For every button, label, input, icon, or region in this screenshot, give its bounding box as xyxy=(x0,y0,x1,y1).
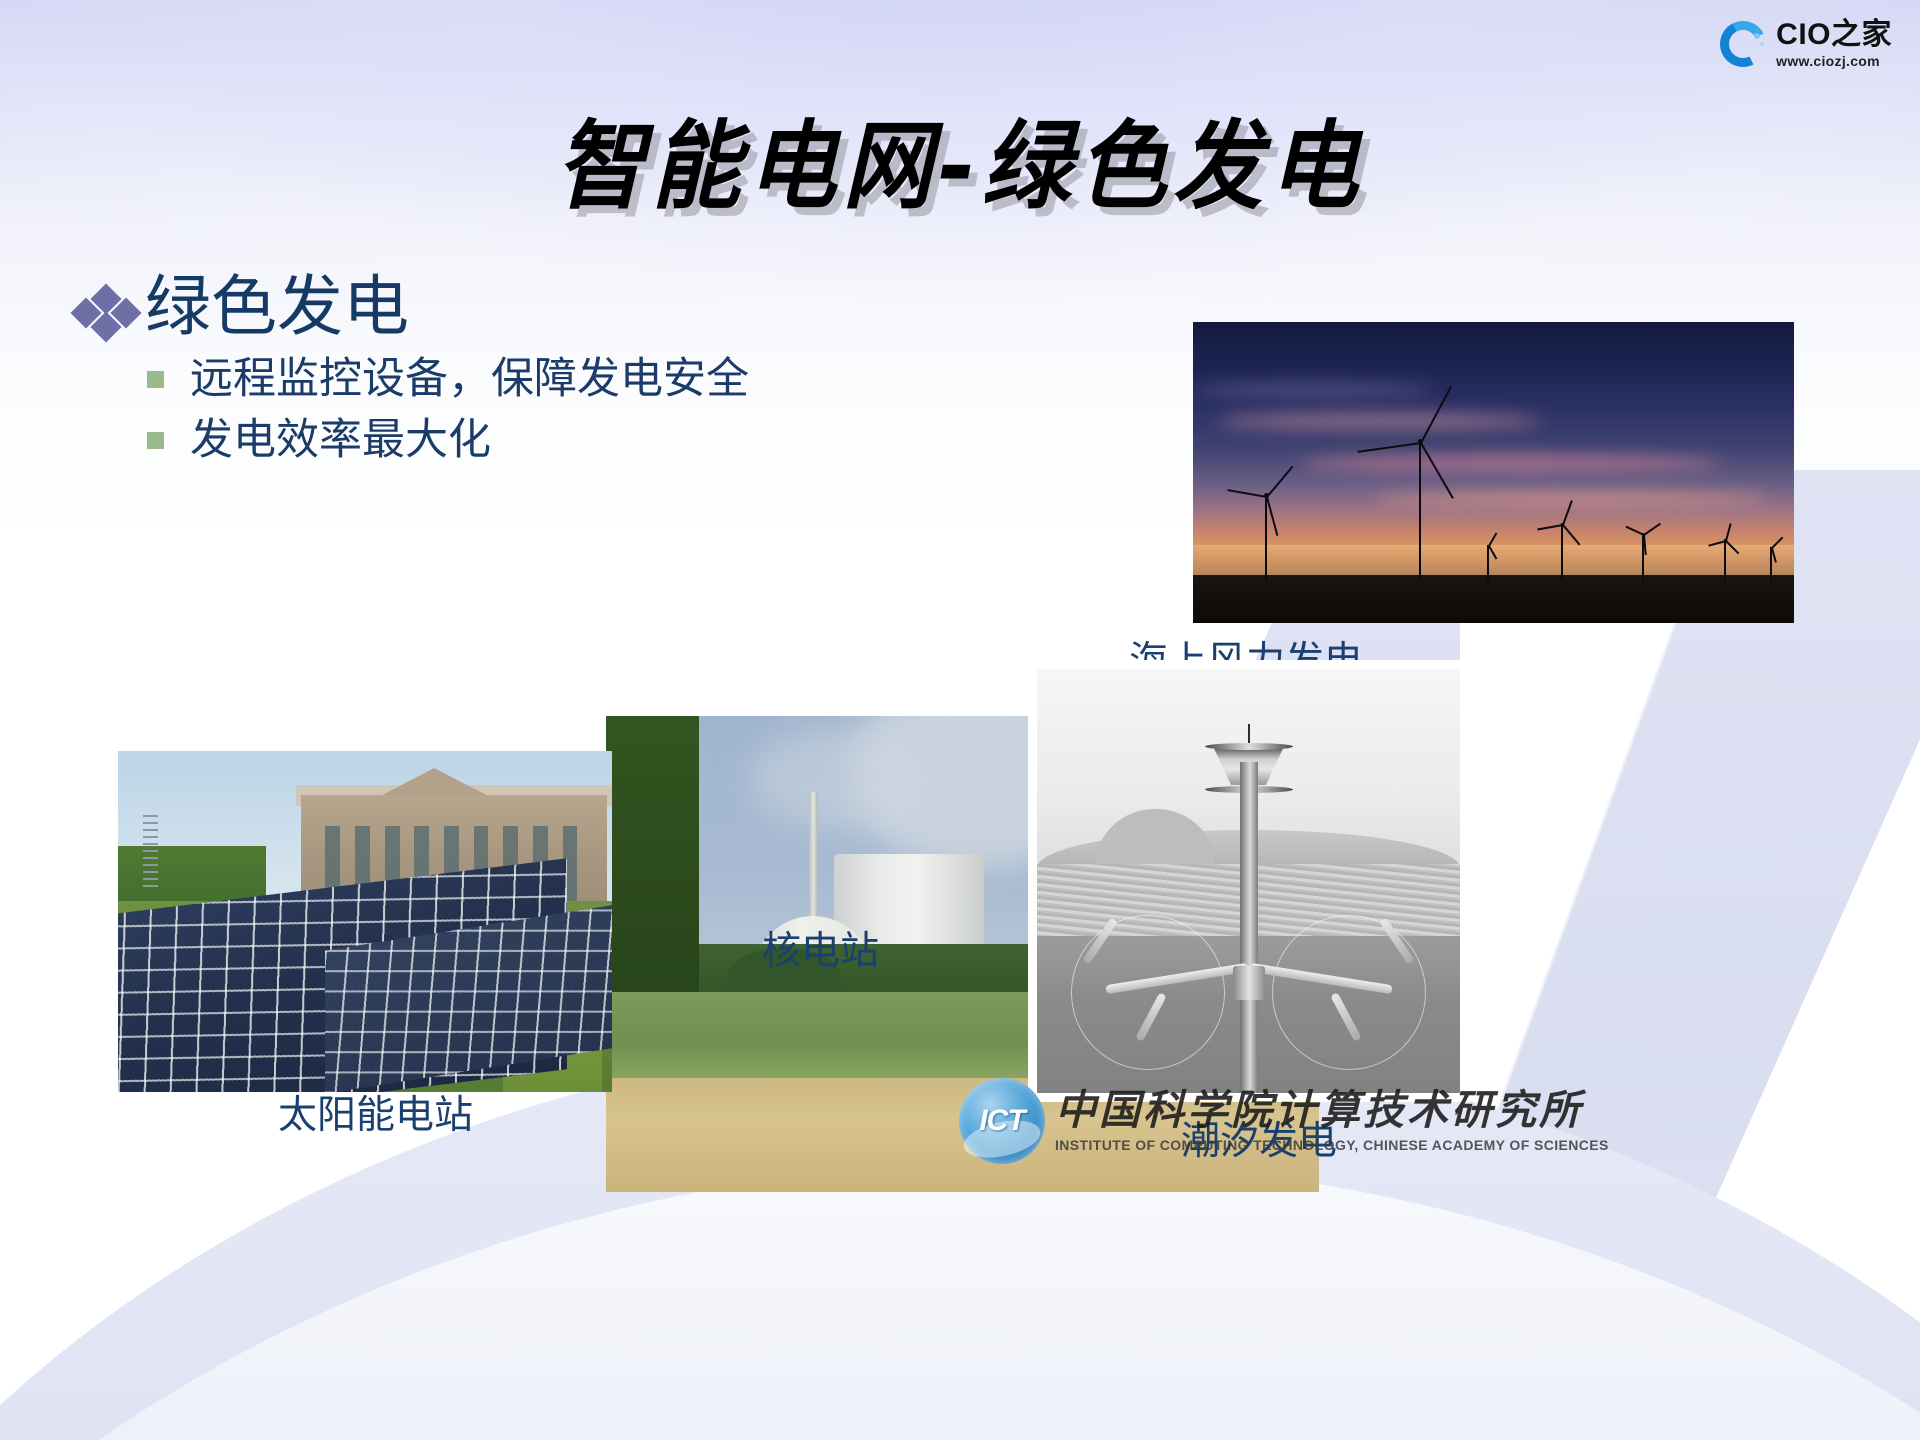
cio-brand-logo: CIO之家 www.ciozj.com xyxy=(1720,20,1892,68)
cio-logo-name: CIO之家 xyxy=(1776,20,1892,50)
list-item: 远程监控设备，保障发电安全 xyxy=(147,352,975,407)
caption-nuclear-plant: 核电站 xyxy=(762,920,879,976)
cio-ring-icon xyxy=(1720,21,1766,67)
ict-name-chinese: 中国科学院计算技术研究所 xyxy=(1055,1090,1609,1131)
ict-emblem-icon: ICT xyxy=(959,1078,1045,1164)
page-title: 智能电网-绿色发电 xyxy=(0,88,1920,228)
main-bullet-label: 绿色发电 xyxy=(145,272,409,341)
ict-name-english: INSTITUTE OF COMPUTING TECHNOLOGY, CHINE… xyxy=(1055,1138,1609,1152)
bullet-list: 绿色发电 远程监控设备，保障发电安全 发电效率最大化 xyxy=(75,272,975,468)
background-wedge xyxy=(1460,520,1920,1280)
sub-bullet-label: 发电效率最大化 xyxy=(190,413,491,468)
list-item: 发电效率最大化 xyxy=(147,413,975,468)
sub-bullet-list: 远程监控设备，保障发电安全 发电效率最大化 xyxy=(147,352,975,468)
photo-tidal-turbine xyxy=(1028,660,1469,1102)
photo-solar-station xyxy=(118,751,612,1092)
square-bullet-icon xyxy=(147,371,164,388)
background-bottom-curve-highlight xyxy=(0,1160,1920,1440)
main-bullet-item: 绿色发电 xyxy=(75,272,975,346)
square-bullet-icon xyxy=(147,432,164,449)
diamond-bullet-icon xyxy=(75,290,131,346)
photo-offshore-wind xyxy=(1193,322,1794,623)
ict-institute-logo: ICT 中国科学院计算技术研究所 INSTITUTE OF COMPUTING … xyxy=(959,1078,1609,1164)
cio-logo-url: www.ciozj.com xyxy=(1776,54,1892,68)
slide-canvas: CIO之家 www.ciozj.com 智能电网-绿色发电 绿色发电 远程监控设… xyxy=(0,0,1920,1440)
caption-solar-station: 太阳能电站 xyxy=(278,1084,473,1140)
sub-bullet-label: 远程监控设备，保障发电安全 xyxy=(190,352,749,407)
ict-abbreviation: ICT xyxy=(959,1078,1045,1164)
